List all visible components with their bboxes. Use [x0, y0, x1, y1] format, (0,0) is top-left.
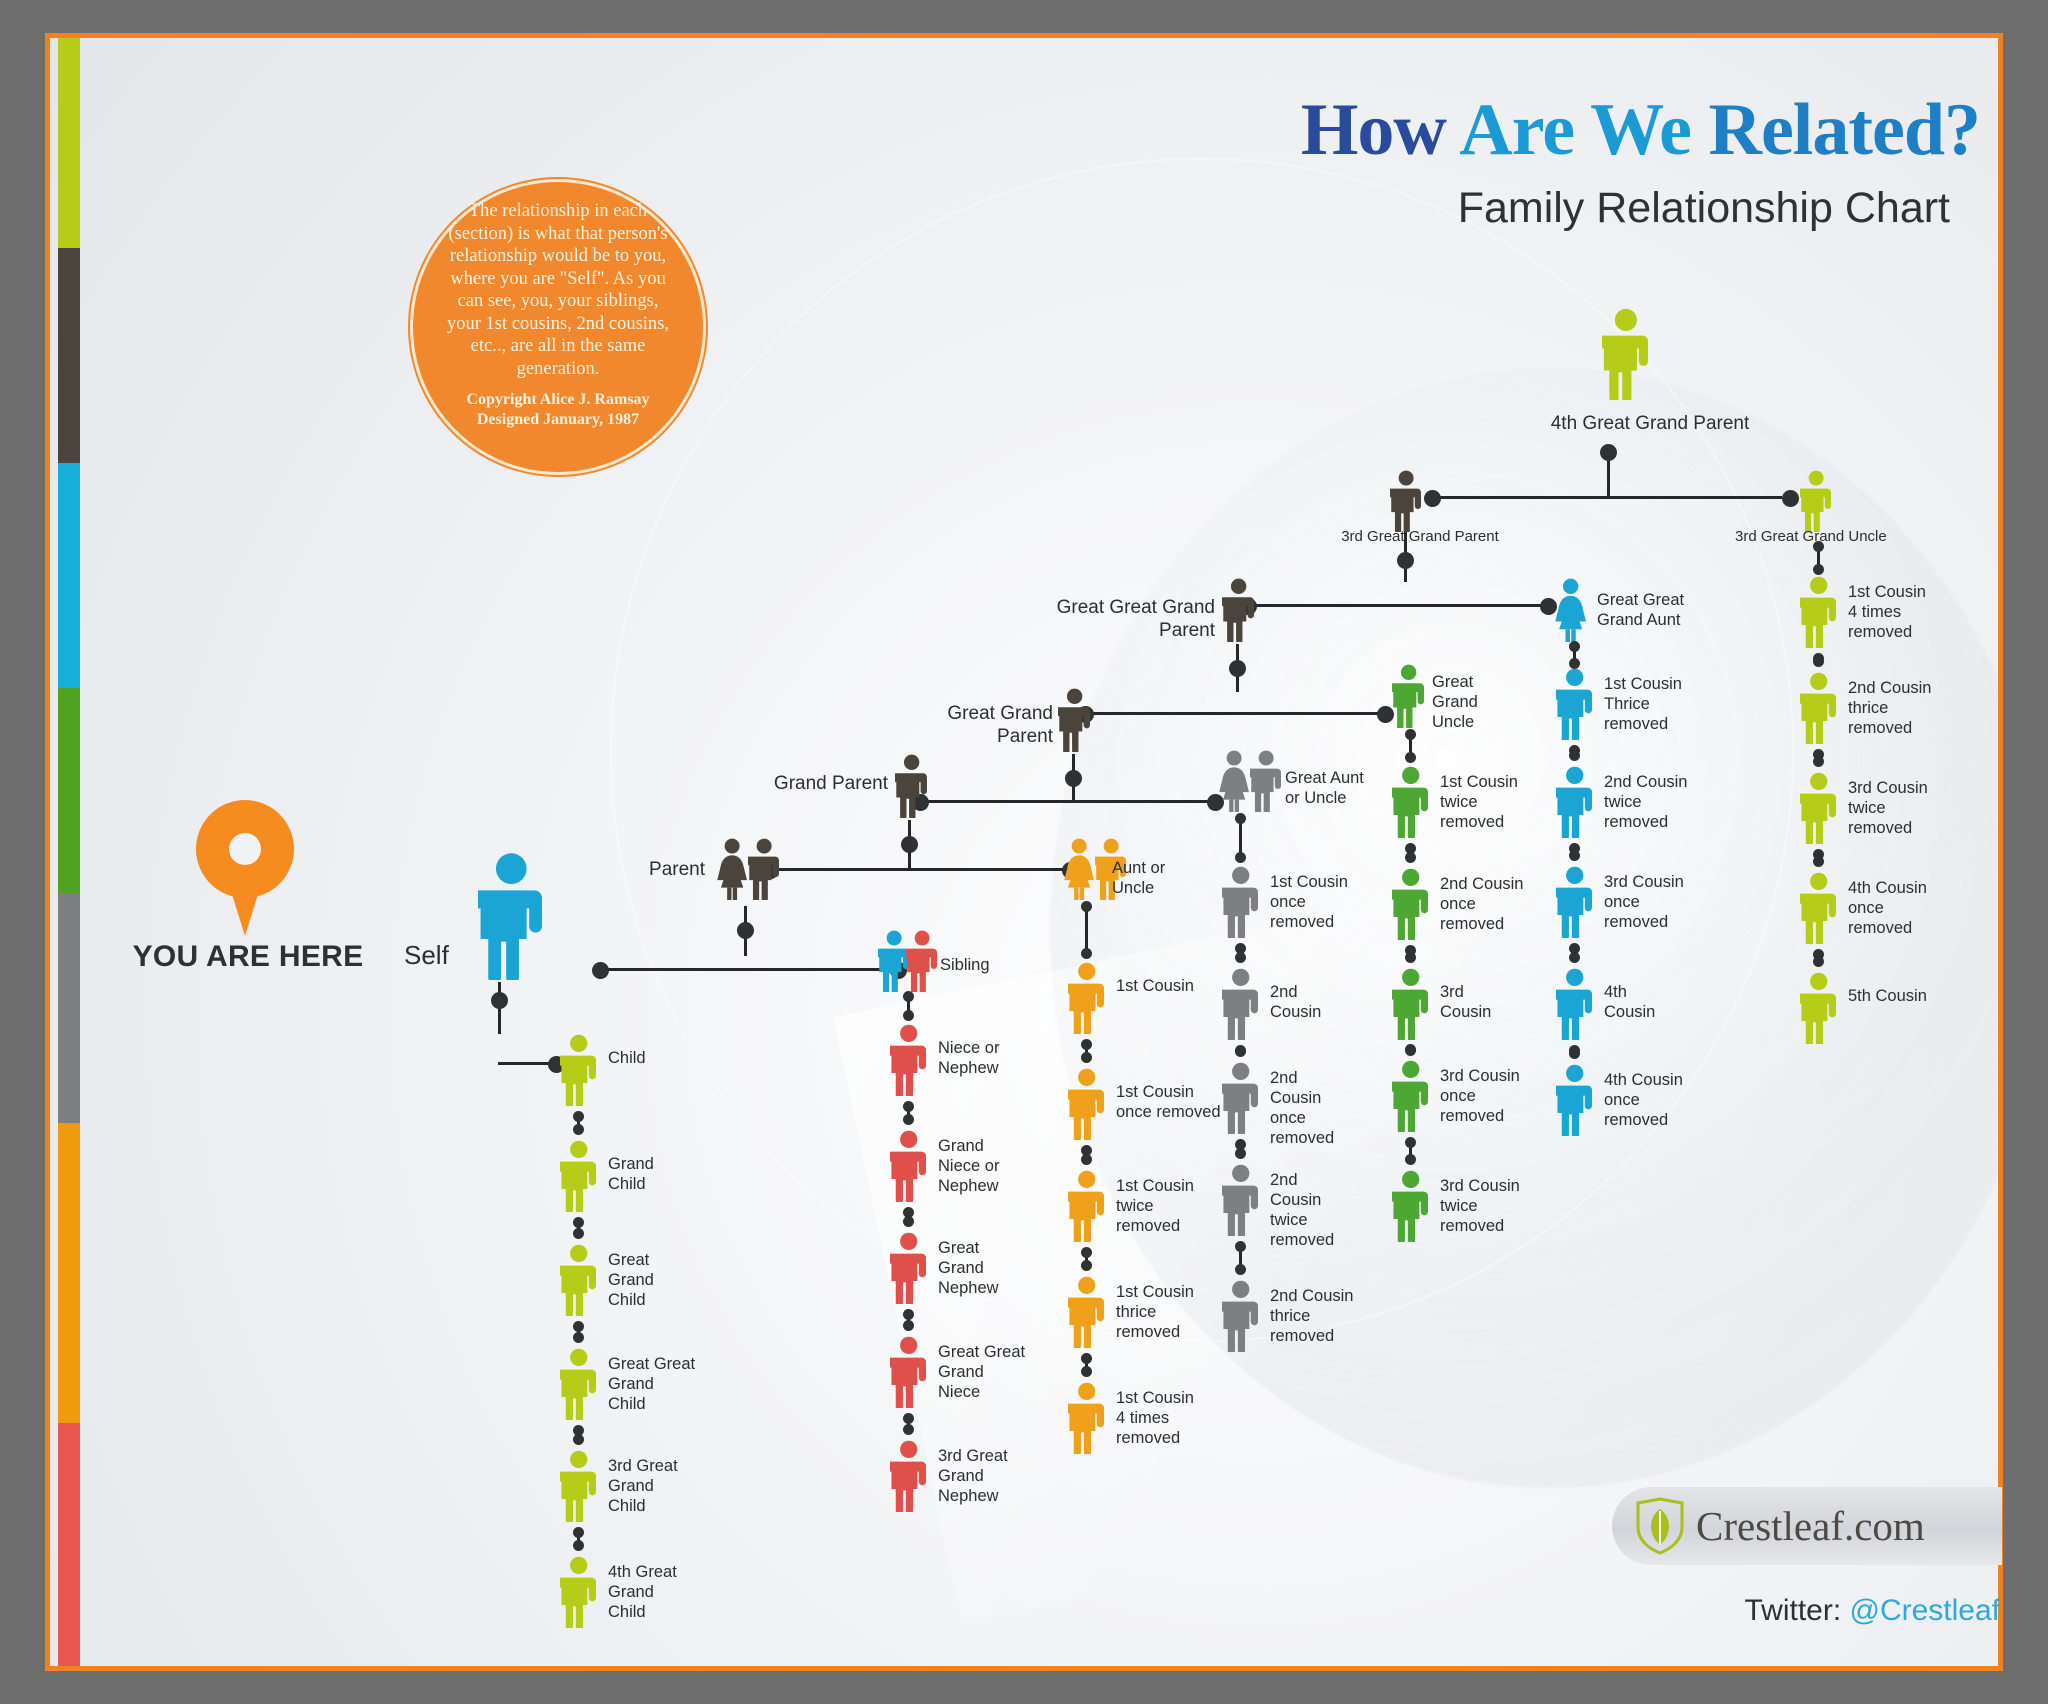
- figure-great-uncle: [1250, 750, 1282, 812]
- strip-segment-2: [58, 463, 80, 688]
- connector-arrow: [577, 1326, 580, 1338]
- twitter-handle: Twitter: @Crestleaf: [1560, 1594, 2000, 1628]
- connector-dot: [1397, 552, 1414, 569]
- figure-great-grand-uncle: [1392, 664, 1425, 728]
- page-subtitle: Family Relationship Chart: [1030, 184, 1950, 233]
- connector-arrow: [1817, 754, 1820, 762]
- connector-horizontal: [770, 868, 1070, 871]
- connector-arrow: [1573, 646, 1576, 664]
- connector-horizontal: [1085, 712, 1385, 715]
- figure-fourth-cousin-2: [1556, 866, 1593, 938]
- figure-descendant-4: [560, 1450, 597, 1522]
- label-fifth-cousin-4: 5th Cousin: [1848, 986, 1927, 1006]
- label-first-cousin-4: 1st Cousin 4 times removed: [1116, 1388, 1194, 1448]
- figure-first-cousin-3: [1068, 1276, 1105, 1348]
- label-descendant-2: Great Grand Child: [608, 1250, 654, 1310]
- title-word-arewe: Are We: [1459, 89, 1691, 171]
- connector-arrow: [577, 1116, 580, 1130]
- connector-arrow: [907, 996, 910, 1016]
- figure-descendant-3: [560, 1348, 597, 1420]
- connector-dot: [901, 836, 918, 853]
- figure-great-great-grand-aunt: [1554, 578, 1587, 642]
- connector-dot: [1229, 660, 1246, 677]
- connector-arrow: [1573, 1050, 1576, 1054]
- label-great-great-grand-aunt: Great Great Grand Aunt: [1597, 590, 1684, 630]
- label-second-cousin-2: 2nd Cousin once removed: [1270, 1068, 1334, 1149]
- strip-segment-5: [58, 1123, 80, 1423]
- label-first-cousin-0: 1st Cousin: [1116, 976, 1194, 996]
- label-self: Self: [404, 940, 449, 972]
- you-are-here-label: YOU ARE HERE: [103, 940, 393, 974]
- connector-horizontal: [600, 968, 900, 971]
- label-3rd-great-grand-parent: 3rd Great Grand Parent: [1295, 528, 1545, 546]
- figure-descendant-2: [560, 1244, 597, 1316]
- connector-arrow: [1817, 658, 1820, 662]
- location-pin-icon: [196, 800, 294, 936]
- label-4th-great-grand-parent: 4th Great Grand Parent: [1470, 412, 1830, 435]
- figure-fourth-cousin-0: [1556, 668, 1593, 740]
- connector-arrow: [1085, 906, 1088, 954]
- connector-horizontal: [1432, 496, 1782, 499]
- figure-grand-parent: [895, 754, 928, 818]
- info-circle: The relationship in each (section) is wh…: [413, 182, 703, 472]
- connector-arrow: [907, 1212, 910, 1222]
- connector-arrow: [1409, 734, 1412, 758]
- connector-dot: [592, 962, 609, 979]
- connector-dot: [1782, 490, 1799, 507]
- label-3rd-great-grand-uncle: 3rd Great Grand Uncle: [1735, 528, 1887, 546]
- connector-dot: [491, 992, 508, 1009]
- strip-segment-6: [58, 1423, 80, 1666]
- figure-descendant-0: [560, 1034, 597, 1106]
- connector-arrow: [1409, 848, 1412, 858]
- poster-border: [45, 33, 2003, 1671]
- label-third-cousin-1: 2nd Cousin once removed: [1440, 874, 1523, 934]
- figure-great-great-grand-parent: [1222, 578, 1255, 642]
- connector-arrow: [907, 1418, 910, 1430]
- figure-second-cousin-2: [1222, 1062, 1259, 1134]
- page-title: How Are We Related?: [1030, 88, 1980, 173]
- figure-third-cousin-4: [1392, 1170, 1429, 1242]
- label-niece-nephew-0: Niece or Nephew: [938, 1038, 999, 1078]
- connector-arrow: [1085, 1358, 1088, 1372]
- connector-arrow: [577, 1532, 580, 1546]
- connector-arrow: [1573, 750, 1576, 756]
- info-circle-body: The relationship in each (section) is wh…: [439, 200, 677, 381]
- title-word-related: Related?: [1709, 89, 1981, 171]
- connector-arrow: [1409, 950, 1412, 958]
- figure-second-cousin-4: [1222, 1280, 1259, 1352]
- crestleaf-brand-name: Crestleaf.com: [1696, 1502, 1925, 1550]
- twitter-prefix: Twitter:: [1744, 1594, 1849, 1627]
- figure-fourth-cousin-3: [1556, 968, 1593, 1040]
- strip-segment-1: [58, 248, 80, 463]
- label-great-grand-uncle: Great Grand Uncle: [1432, 672, 1478, 732]
- connector-arrow: [1573, 848, 1576, 856]
- label-third-cousin-4: 3rd Cousin twice removed: [1440, 1176, 1520, 1236]
- title-word-how: How: [1301, 89, 1446, 171]
- twitter-handle-text: @Crestleaf: [1850, 1594, 2001, 1627]
- label-niece-nephew-3: Great Great Grand Niece: [938, 1342, 1025, 1402]
- figure-niece-nephew-3: [890, 1336, 927, 1408]
- connector-arrow: [1409, 1142, 1412, 1160]
- figure-second-cousin-3: [1222, 1164, 1259, 1236]
- label-first-cousin-3: 1st Cousin thrice removed: [1116, 1282, 1194, 1342]
- figure-third-cousin-3: [1392, 1060, 1429, 1132]
- figure-third-cousin-1: [1392, 868, 1429, 940]
- connector-arrow: [1085, 1150, 1088, 1160]
- label-great-grand-parent: Great Grand Parent: [890, 702, 1053, 748]
- label-fourth-cousin-2: 3rd Cousin once removed: [1604, 872, 1684, 932]
- connector-arrow: [1239, 948, 1242, 958]
- figure-sibling-red: [906, 930, 938, 992]
- figure-descendant-1: [560, 1140, 597, 1212]
- label-second-cousin-4: 2nd Cousin thrice removed: [1270, 1286, 1353, 1346]
- figure-first-cousin-1: [1068, 1068, 1105, 1140]
- figure-first-cousin-2: [1068, 1170, 1105, 1242]
- strip-segment-0: [58, 38, 80, 248]
- figure-3rd-great-grand-parent: [1390, 470, 1422, 532]
- strip-segment-3: [58, 688, 80, 893]
- figure-fourth-cousin-4: [1556, 1064, 1593, 1136]
- label-niece-nephew-2: Great Grand Nephew: [938, 1238, 999, 1298]
- label-fifth-cousin-2: 3rd Cousin twice removed: [1848, 778, 1928, 838]
- label-first-cousin-2: 1st Cousin twice removed: [1116, 1176, 1194, 1236]
- connector-arrow: [907, 1314, 910, 1326]
- label-descendant-3: Great Great Grand Child: [608, 1354, 695, 1414]
- figure-parent-mother: [716, 838, 748, 900]
- label-descendant-4: 3rd Great Grand Child: [608, 1456, 678, 1516]
- label-fourth-cousin-1: 2nd Cousin twice removed: [1604, 772, 1687, 832]
- figure-second-cousin-0: [1222, 866, 1259, 938]
- info-circle-copyright: Copyright Alice J. Ramsay Designed Janua…: [439, 390, 677, 430]
- connector-arrow: [1239, 1144, 1242, 1154]
- label-grand-parent: Grand Parent: [760, 772, 888, 795]
- figure-niece-nephew-0: [890, 1024, 927, 1096]
- figure-4th-great-grand-parent: [1602, 308, 1650, 400]
- figure-descendant-5: [560, 1556, 597, 1628]
- label-fifth-cousin-0: 1st Cousin 4 times removed: [1848, 582, 1926, 642]
- connector-arrow: [577, 1222, 580, 1234]
- label-fourth-cousin-3: 4th Cousin: [1604, 982, 1655, 1022]
- figure-fifth-cousin-2: [1800, 772, 1837, 844]
- figure-fifth-cousin-0: [1800, 576, 1837, 648]
- figure-fourth-cousin-1: [1556, 766, 1593, 838]
- label-niece-nephew-1: Grand Niece or Nephew: [938, 1136, 999, 1196]
- label-parent: Parent: [600, 858, 705, 881]
- label-fourth-cousin-0: 1st Cousin Thrice removed: [1604, 674, 1682, 734]
- figure-fifth-cousin-1: [1800, 672, 1837, 744]
- label-second-cousin-0: 1st Cousin once removed: [1270, 872, 1348, 932]
- label-third-cousin-3: 3rd Cousin once removed: [1440, 1066, 1520, 1126]
- connector-arrow: [1573, 948, 1576, 958]
- connector-dot: [737, 922, 754, 939]
- figure-niece-nephew-4: [890, 1440, 927, 1512]
- label-second-cousin-1: 2nd Cousin: [1270, 982, 1321, 1022]
- figure-3rd-great-grand-uncle: [1800, 470, 1832, 532]
- figure-niece-nephew-1: [890, 1130, 927, 1202]
- label-aunt-or-uncle: Aunt or Uncle: [1112, 858, 1165, 898]
- figure-first-cousin-0: [1068, 962, 1105, 1034]
- label-niece-nephew-4: 3rd Great Grand Nephew: [938, 1446, 1008, 1506]
- crestleaf-shield-leaf-icon: [1634, 1497, 1686, 1555]
- figure-fifth-cousin-4: [1800, 972, 1837, 1044]
- figure-aunt: [1063, 838, 1095, 900]
- figure-parent-father: [748, 838, 780, 900]
- figure-great-grand-parent: [1058, 688, 1091, 752]
- label-third-cousin-0: 1st Cousin twice removed: [1440, 772, 1518, 832]
- figure-second-cousin-1: [1222, 968, 1259, 1040]
- connector-arrow: [1239, 1246, 1242, 1270]
- connector-dot: [1424, 490, 1441, 507]
- label-descendant-1: Grand Child: [608, 1154, 654, 1194]
- connector-arrow: [577, 1430, 580, 1440]
- connector-arrow: [1817, 546, 1820, 570]
- connector-horizontal: [920, 800, 1215, 803]
- figure-great-aunt: [1218, 750, 1250, 812]
- crestleaf-badge[interactable]: Crestleaf.com: [1612, 1487, 2002, 1565]
- connector-dot: [1377, 706, 1394, 723]
- label-third-cousin-2: 3rd Cousin: [1440, 982, 1491, 1022]
- color-strip: [58, 38, 80, 1666]
- connector-arrow: [1817, 854, 1820, 862]
- figure-first-cousin-4: [1068, 1382, 1105, 1454]
- label-second-cousin-3: 2nd Cousin twice removed: [1270, 1170, 1334, 1251]
- connector-arrow: [1817, 954, 1820, 962]
- connector-arrow: [1239, 1050, 1242, 1052]
- connector-arrow: [1239, 818, 1242, 858]
- connector-dot: [1065, 770, 1082, 787]
- connector-arrow: [907, 1106, 910, 1120]
- figure-niece-nephew-2: [890, 1232, 927, 1304]
- figure-self: [478, 852, 545, 980]
- label-great-great-grand-parent: Great Great Grand Parent: [1020, 596, 1215, 642]
- connector-dot: [1600, 444, 1617, 461]
- figure-fifth-cousin-3: [1800, 872, 1837, 944]
- label-fifth-cousin-3: 4th Cousin once removed: [1848, 878, 1927, 938]
- label-descendant-5: 4th Great Grand Child: [608, 1562, 677, 1622]
- label-fifth-cousin-1: 2nd Cousin thrice removed: [1848, 678, 1931, 738]
- connector-horizontal: [1248, 604, 1548, 607]
- connector-arrow: [1085, 1044, 1088, 1058]
- label-sibling: Sibling: [940, 955, 990, 975]
- label-descendant-0: Child: [608, 1048, 646, 1068]
- strip-segment-4: [58, 893, 80, 1123]
- figure-third-cousin-0: [1392, 766, 1429, 838]
- connector-arrow: [1085, 1252, 1088, 1266]
- infographic-root: How Are We Related? Family Relationship …: [0, 0, 2048, 1704]
- label-fourth-cousin-4: 4th Cousin once removed: [1604, 1070, 1683, 1130]
- figure-third-cousin-2: [1392, 968, 1429, 1040]
- label-great-aunt-or-uncle: Great Aunt or Uncle: [1285, 768, 1364, 808]
- label-first-cousin-1: 1st Cousin once removed: [1116, 1082, 1221, 1122]
